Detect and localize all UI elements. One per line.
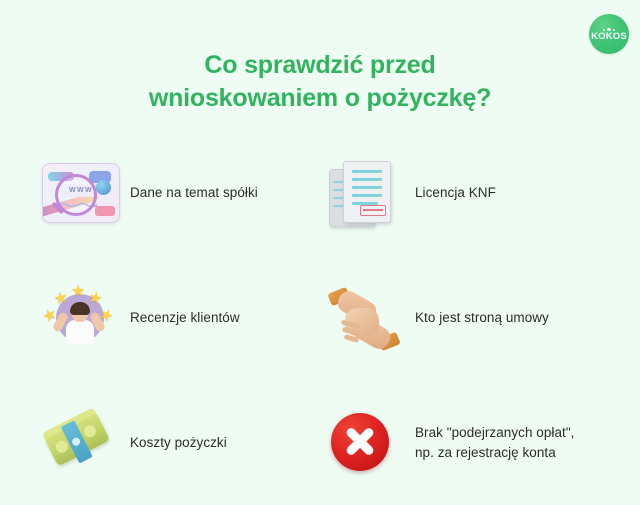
money-banknotes-icon — [38, 407, 116, 479]
web-search-icon: WWW — [38, 157, 116, 229]
list-item-label-text: Brak "podejrzanych opłat", — [415, 423, 574, 442]
documents-icon — [323, 157, 401, 229]
list-item-label-text: Licencja KNF — [415, 185, 496, 200]
list-item: ★ ★ ★ ★ ★ Recenzje klientów — [38, 255, 323, 380]
list-item-label-text: Dane na temat spółki — [130, 185, 258, 200]
star-icon: ★ — [51, 289, 70, 308]
page-title-line-1: Co sprawdzić przed — [0, 49, 640, 83]
logo-dots-decoration — [589, 22, 629, 31]
page-title-line-2: wnioskowaniem o pożyczkę? — [0, 82, 640, 116]
list-item: WWW Dane na temat spółki — [38, 130, 323, 255]
list-item-label-text: Koszty pożyczki — [130, 435, 227, 450]
handshake-icon — [323, 282, 401, 354]
checklist-grid: WWW Dane na temat spółki — [0, 130, 640, 505]
customer-reviews-stars-icon: ★ ★ ★ ★ ★ — [38, 282, 116, 354]
logo-wordmark: KOKOS — [591, 32, 627, 42]
star-icon: ★ — [70, 284, 86, 300]
page-title: Co sprawdzić przed wnioskowaniem o pożyc… — [0, 49, 640, 116]
list-item-label: Kto jest stroną umowy — [415, 308, 549, 327]
list-item-label-text-line-2: np. za rejestrację konta — [415, 443, 574, 462]
list-item: Koszty pożyczki — [38, 380, 323, 505]
list-item: Licencja KNF — [323, 130, 623, 255]
list-item-label: Koszty pożyczki — [130, 433, 227, 452]
list-item-label: Recenzje klientów — [130, 308, 240, 327]
list-item: Brak "podejrzanych opłat", np. za rejest… — [323, 380, 623, 505]
list-item-label: Dane na temat spółki — [130, 183, 258, 202]
list-item-label-text: Recenzje klientów — [130, 310, 240, 325]
red-cross-icon — [323, 407, 401, 479]
list-item: Kto jest stroną umowy — [323, 255, 623, 380]
list-item-label: Licencja KNF — [415, 183, 496, 202]
list-item-label-text: Kto jest stroną umowy — [415, 310, 549, 325]
list-item-label: Brak "podejrzanych opłat", np. za rejest… — [415, 423, 574, 461]
